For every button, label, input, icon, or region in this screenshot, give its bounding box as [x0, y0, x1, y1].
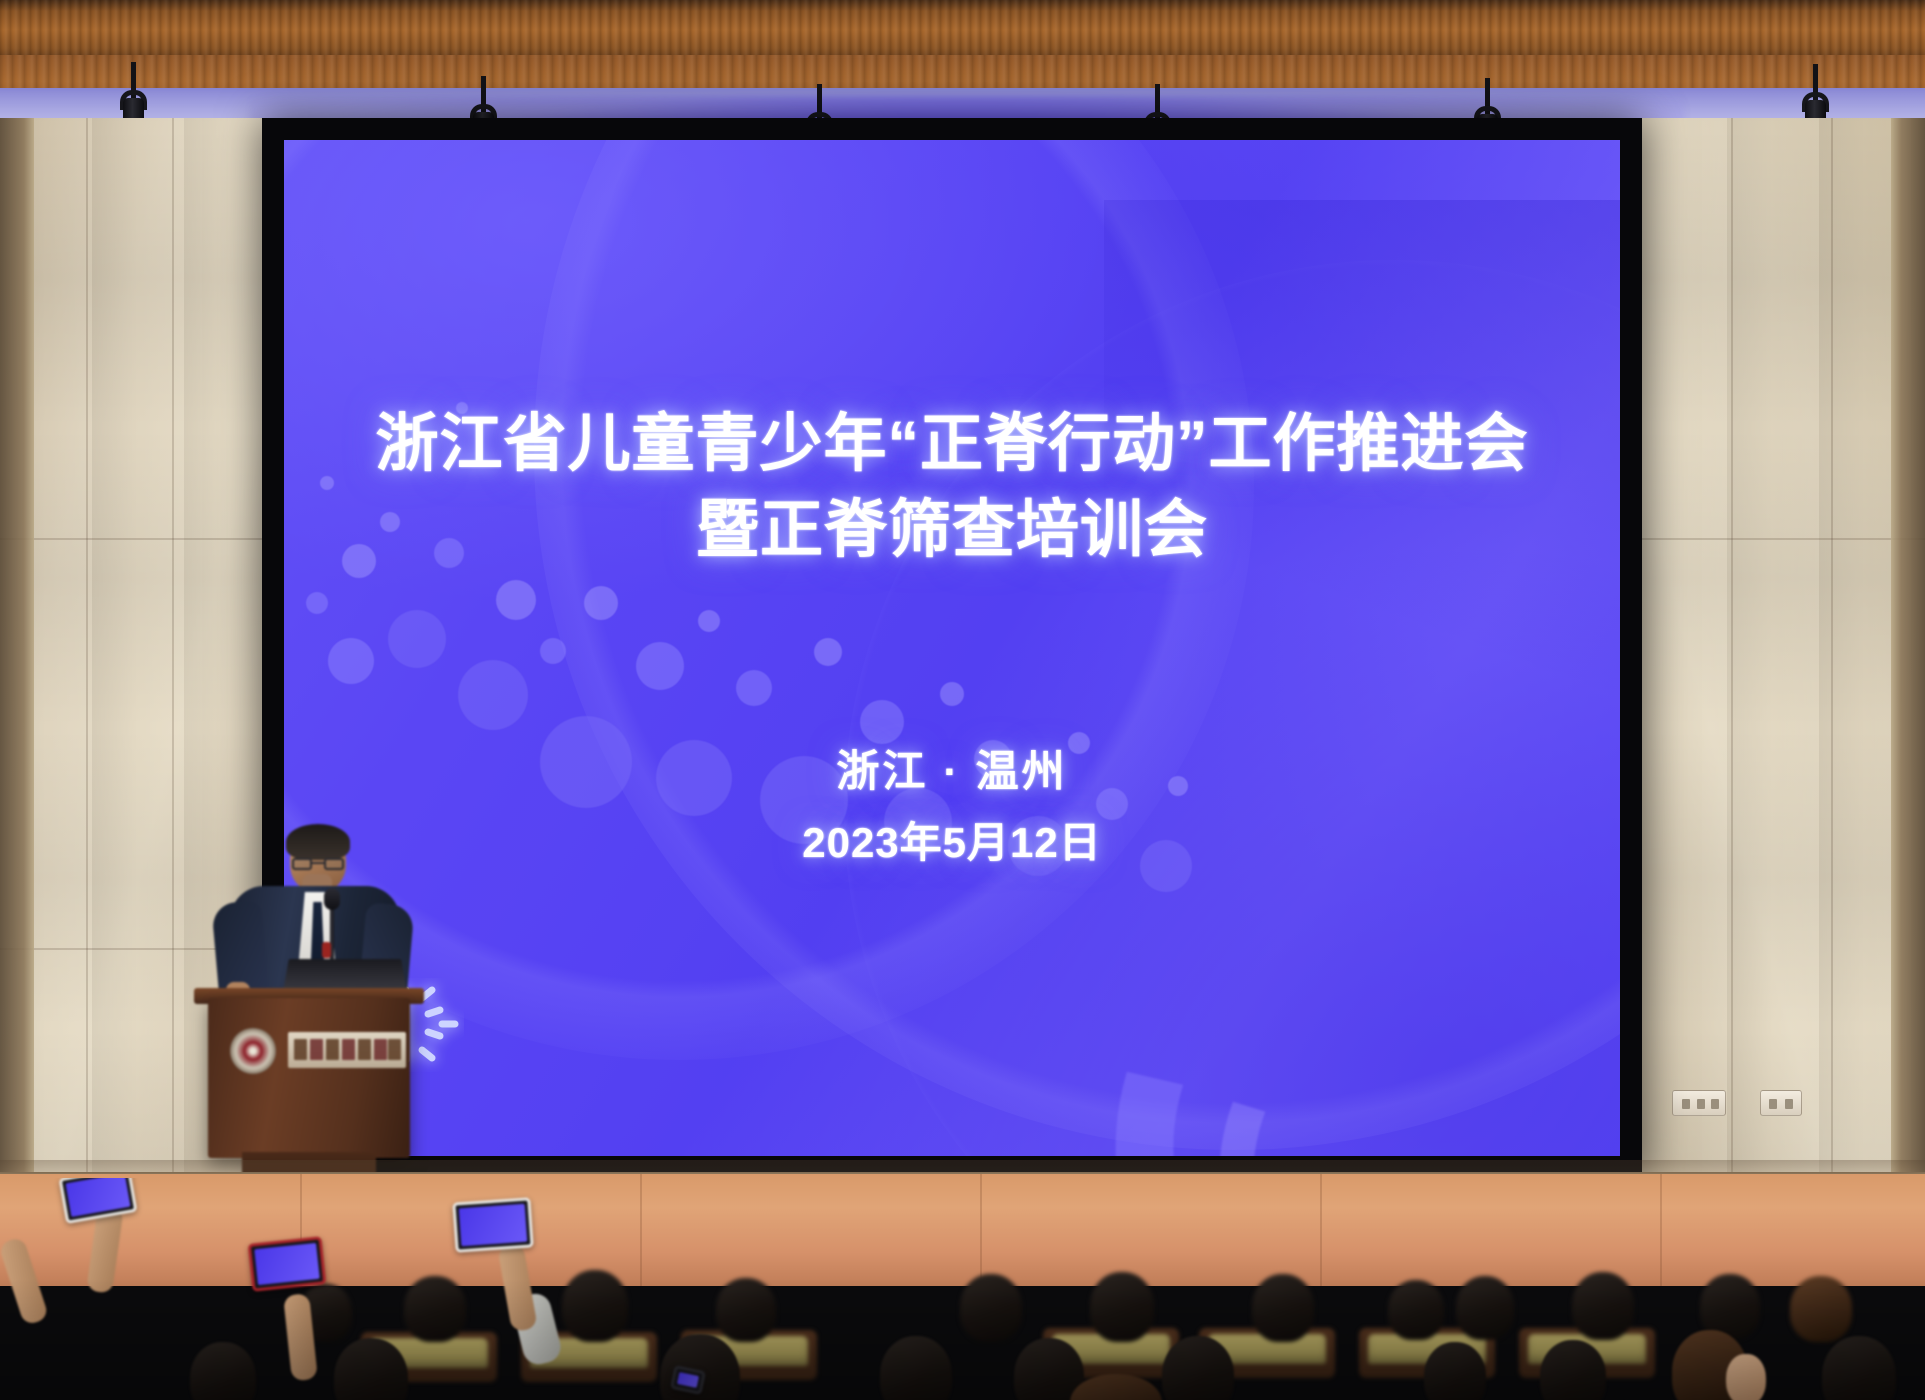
led-screen-bezel: 浙江省儿童青少年“正脊行动”工作推进会 暨正脊筛查培训会 浙江 · 温州 202… — [262, 118, 1642, 1178]
eyeglasses-icon — [292, 858, 344, 870]
screen-bubble — [698, 610, 720, 632]
screen-bubble — [636, 642, 684, 690]
presentation-title-line1: 浙江省儿童青少年“正脊行动”工作推进会 — [376, 409, 1529, 479]
presentation-location: 浙江 · 温州 — [836, 748, 1067, 796]
smartphone-recording — [452, 1197, 533, 1252]
screen-bubble — [940, 682, 964, 706]
presentation-title: 浙江省儿童青少年“正脊行动”工作推进会 暨正脊筛查培训会 — [284, 402, 1620, 573]
screen-bubble — [306, 592, 328, 614]
left-wall-dark-trim — [0, 118, 34, 1178]
screen-bubble — [860, 700, 904, 744]
audience-area — [0, 1178, 1925, 1400]
screen-bubble — [814, 638, 842, 666]
podium-nameplate — [288, 1032, 406, 1068]
presentation-date: 2023年5月12日 — [284, 811, 1620, 874]
led-screen-display: 浙江省儿童青少年“正脊行动”工作推进会 暨正脊筛查培训会 浙江 · 温州 202… — [284, 140, 1620, 1156]
screen-bubble — [736, 670, 772, 706]
screen-bubble — [540, 638, 566, 664]
screen-bubble — [328, 638, 374, 684]
wall-power-outlet — [1760, 1090, 1802, 1116]
presentation-subtitle: 浙江 · 温州 2023年5月12日 — [284, 740, 1620, 874]
smartphone-recording — [59, 1178, 138, 1224]
presentation-title-line2: 暨正脊筛查培训会 — [314, 488, 1590, 574]
wall-power-outlet — [1672, 1090, 1726, 1116]
raised-arm — [497, 1243, 538, 1332]
right-wall-dark-trim — [1891, 118, 1925, 1178]
podium-indicator-light — [322, 942, 331, 958]
presenter-hair — [286, 824, 350, 860]
screen-bubble — [496, 580, 536, 620]
conference-hall-photo: 浙江省儿童青少年“正脊行动”工作推进会 暨正脊筛查培训会 浙江 · 温州 202… — [0, 0, 1925, 1400]
smartphone-recording — [248, 1236, 327, 1291]
right-wall-panels — [1635, 118, 1925, 1178]
screen-bubble — [458, 660, 528, 730]
institution-emblem — [230, 1028, 276, 1074]
screen-bubble — [388, 610, 446, 668]
lectern — [208, 998, 410, 1158]
ceiling-wood-panel — [0, 0, 1925, 62]
raised-arm — [0, 1236, 49, 1326]
screen-bubble — [584, 586, 618, 620]
